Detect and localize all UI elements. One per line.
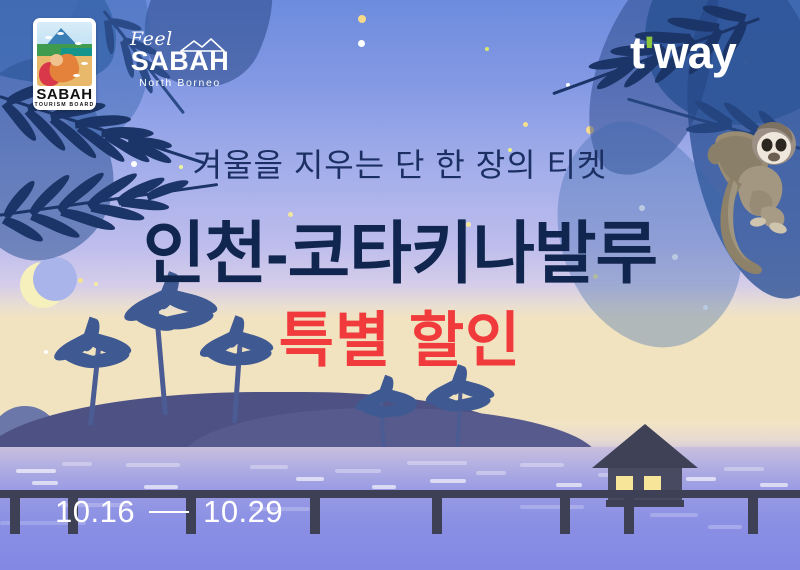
logo-wordmark: SABAH TOURISM BOARD <box>33 88 96 108</box>
date-start: 10.16 <box>55 494 135 530</box>
hut-window <box>616 476 633 490</box>
overwater-bungalow <box>608 424 682 492</box>
sabah-tourism-board-logo: SABAH TOURISM BOARD <box>33 18 96 110</box>
mountain-icon <box>180 38 238 52</box>
tway-way: way <box>654 27 736 78</box>
banner-promo-text: 특별 할인 <box>0 305 800 377</box>
tway-apostrophe: ' <box>644 27 654 78</box>
sabah-logo-name: SABAH <box>33 88 96 102</box>
hut-railing <box>606 500 684 507</box>
promotional-banner: SABAH TOURISM BOARD Feel SABAH North Bor… <box>0 0 800 570</box>
banner-headline: 인천-코타키나발루 <box>0 215 800 293</box>
pier-pile <box>624 498 634 534</box>
hut-roof <box>592 424 698 468</box>
feel-sabah-logo: Feel SABAH North Borneo <box>120 30 240 92</box>
promotion-date-range: 10.16 10.29 <box>55 494 283 530</box>
pier-pile <box>310 498 320 534</box>
banner-subtitle: 겨울을 지우는 단 한 장의 티켓 <box>0 140 800 186</box>
pier-pile <box>432 498 442 534</box>
hut-window <box>644 476 661 490</box>
logo-artwork <box>37 22 92 86</box>
sabah-logo-subtitle: TOURISM BOARD <box>33 102 96 108</box>
pier-pile <box>10 498 20 534</box>
date-end: 10.29 <box>203 494 283 530</box>
pier-pile <box>748 498 758 534</box>
pier-pile <box>560 498 570 534</box>
tway-air-logo: t'way <box>630 30 736 75</box>
tway-t: t <box>630 27 644 78</box>
feel-sabah-region: North Borneo <box>120 77 240 89</box>
feel-sabah-name: SABAH <box>120 48 240 75</box>
date-separator-dash <box>149 511 189 513</box>
